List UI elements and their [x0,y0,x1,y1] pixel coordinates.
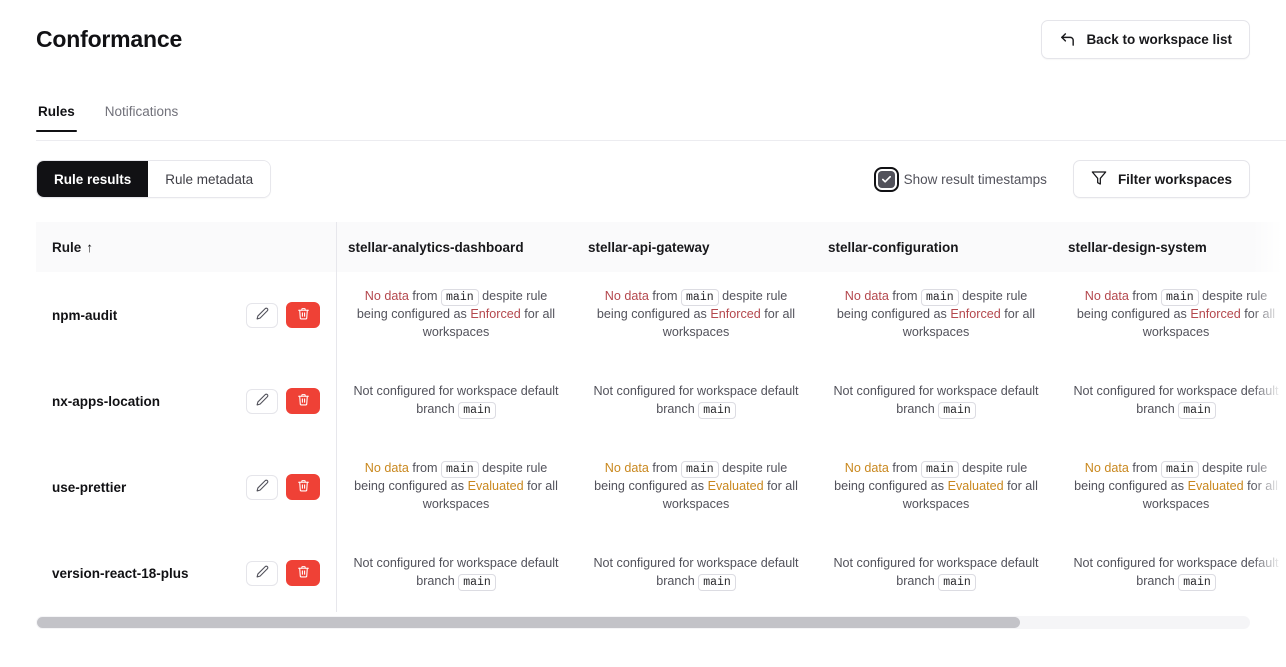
rule-name: nx-apps-location [52,394,160,409]
result-cell: No data from main despite rule being con… [576,444,816,530]
result-cell-content: No data from main despite rule being con… [348,288,564,342]
rule-name: use-prettier [52,480,126,495]
workspace-column-label: stellar-analytics-dashboard [348,240,524,255]
table-row: nx-apps-locationNot configured for works… [36,358,1286,444]
cell-mode-label: Enforced [710,307,760,321]
cell-mode-label: Enforced [1190,307,1240,321]
back-to-workspace-list-button[interactable]: Back to workspace list [1041,20,1250,59]
branch-chip: main [698,402,736,419]
table-row: version-react-18-plusNot configured for … [36,530,1286,612]
cell-message-text: from [889,289,921,303]
cell-mode-label: Evaluated [948,479,1004,493]
branch-chip: main [921,461,959,478]
result-cell-content: No data from main despite rule being con… [828,460,1044,514]
result-cell-content: Not configured for workspace default bra… [828,383,1044,419]
show-result-timestamps-toggle[interactable]: Show result timestamps [878,171,1047,188]
page-header: Conformance Back to workspace list [0,0,1286,78]
conformance-page: Conformance Back to workspace list Rules… [0,0,1286,667]
result-cell: No data from main despite rule being con… [1056,444,1286,530]
show-result-timestamps-label: Show result timestamps [904,172,1047,187]
result-cell: Not configured for workspace default bra… [1056,358,1286,444]
edit-rule-button[interactable] [246,389,278,414]
cell-message-text: from [1129,289,1161,303]
branch-chip: main [938,402,976,419]
pencil-icon [256,565,269,581]
cell-mode-label: Evaluated [468,479,524,493]
result-cell: No data from main despite rule being con… [1056,272,1286,358]
segment-rule-results[interactable]: Rule results [37,161,148,197]
controls-right-group: Show result timestamps Filter workspaces [878,160,1250,198]
result-cell-content: No data from main despite rule being con… [348,460,564,514]
trash-icon [297,307,310,323]
branch-chip: main [921,289,959,306]
row-actions [246,388,320,414]
cell-message-text: Not configured for workspace default bra… [833,556,1038,588]
result-cell: Not configured for workspace default bra… [816,358,1056,444]
branch-chip: main [1178,402,1216,419]
table-row: use-prettierNo data from main despite ru… [36,444,1286,530]
undo-arrow-icon [1059,31,1076,48]
cell-status-label: No data [605,289,649,303]
result-cell-content: Not configured for workspace default bra… [828,555,1044,591]
rule-name: npm-audit [52,308,117,323]
table-header-row: Rule ↑ stellar-analytics-dashboard stell… [36,222,1286,272]
cell-mode-label: Enforced [950,307,1000,321]
cell-message-text: Not configured for workspace default bra… [833,384,1038,416]
cell-status-label: No data [365,289,409,303]
result-cell: Not configured for workspace default bra… [1056,530,1286,612]
cell-message-text: Not configured for workspace default bra… [593,384,798,416]
tab-rules[interactable]: Rules [36,104,77,131]
back-button-label: Back to workspace list [1086,32,1232,47]
cell-status-label: No data [845,461,889,475]
result-cell: No data from main despite rule being con… [816,444,1056,530]
edit-rule-button[interactable] [246,561,278,586]
result-cell-content: No data from main despite rule being con… [1068,460,1284,514]
branch-chip: main [458,402,496,419]
result-cell: No data from main despite rule being con… [816,272,1056,358]
cell-status-label: No data [845,289,889,303]
rule-cell: npm-audit [36,272,336,358]
horizontal-scrollbar[interactable] [36,616,1250,629]
delete-rule-button[interactable] [286,388,320,414]
workspace-column-label: stellar-api-gateway [588,240,710,255]
rule-column-label: Rule [52,240,81,255]
cell-mode-label: Evaluated [1188,479,1244,493]
column-header-workspace[interactable]: stellar-configuration [816,222,1056,272]
funnel-icon [1091,170,1107,189]
edit-rule-button[interactable] [246,303,278,328]
rule-cell: version-react-18-plus [36,530,336,612]
result-cell: Not configured for workspace default bra… [816,530,1056,612]
row-actions [246,560,320,586]
view-segmented-control: Rule results Rule metadata [36,160,271,198]
edit-rule-button[interactable] [246,475,278,500]
cell-message-text: Not configured for workspace default bra… [593,556,798,588]
conformance-table: Rule ↑ stellar-analytics-dashboard stell… [36,222,1286,612]
result-cell-content: No data from main despite rule being con… [588,288,804,342]
rule-cell: nx-apps-location [36,358,336,444]
cell-message-text: Not configured for workspace default bra… [1073,384,1278,416]
tab-notifications[interactable]: Notifications [103,104,181,131]
result-cell: No data from main despite rule being con… [336,272,576,358]
sort-ascending-icon: ↑ [86,240,93,255]
result-cell-content: Not configured for workspace default bra… [1068,555,1284,591]
trash-icon [297,393,310,409]
result-cell-content: No data from main despite rule being con… [1068,288,1284,342]
column-header-workspace[interactable]: stellar-analytics-dashboard [336,222,576,272]
filter-workspaces-label: Filter workspaces [1118,172,1232,187]
cell-mode-label: Evaluated [708,479,764,493]
table-row: npm-auditNo data from main despite rule … [36,272,1286,358]
delete-rule-button[interactable] [286,560,320,586]
cell-mode-label: Enforced [470,307,520,321]
cell-status-label: No data [1085,289,1129,303]
main-tabs: Rules Notifications [36,104,1286,141]
table-grid: Rule ↑ stellar-analytics-dashboard stell… [36,222,1286,612]
pencil-icon [256,393,269,409]
result-cell-content: Not configured for workspace default bra… [588,555,804,591]
cell-message-text: from [649,289,681,303]
row-actions [246,474,320,500]
cell-status-label: No data [605,461,649,475]
checkbox-checked-icon[interactable] [878,171,895,188]
horizontal-scrollbar-thumb[interactable] [37,617,1020,628]
cell-message-text: Not configured for workspace default bra… [353,384,558,416]
result-cell-content: Not configured for workspace default bra… [348,383,564,419]
result-cell-content: Not configured for workspace default bra… [1068,383,1284,419]
branch-chip: main [681,289,719,306]
branch-chip: main [441,289,479,306]
result-cell: No data from main despite rule being con… [336,444,576,530]
table-body: npm-auditNo data from main despite rule … [36,272,1286,612]
branch-chip: main [458,574,496,591]
rule-name: version-react-18-plus [52,566,189,581]
branch-chip: main [1161,461,1199,478]
delete-rule-button[interactable] [286,474,320,500]
delete-rule-button[interactable] [286,302,320,328]
result-cell-content: No data from main despite rule being con… [588,460,804,514]
branch-chip: main [1161,289,1199,306]
pencil-icon [256,479,269,495]
rule-cell: use-prettier [36,444,336,530]
result-cell-content: Not configured for workspace default bra… [348,555,564,591]
result-cell: Not configured for workspace default bra… [576,358,816,444]
row-actions [246,302,320,328]
trash-icon [297,565,310,581]
result-cell: Not configured for workspace default bra… [576,530,816,612]
segment-rule-metadata[interactable]: Rule metadata [148,161,270,197]
branch-chip: main [698,574,736,591]
branch-chip: main [441,461,479,478]
workspace-column-label: stellar-design-system [1068,240,1207,255]
branch-chip: main [681,461,719,478]
cell-message-text: Not configured for workspace default bra… [1073,556,1278,588]
cell-message-text: from [409,289,441,303]
cell-message-text: from [889,461,921,475]
column-header-workspace[interactable]: stellar-design-system [1056,222,1286,272]
column-header-workspace[interactable]: stellar-api-gateway [576,222,816,272]
cell-message-text: from [1129,461,1161,475]
page-title: Conformance [36,26,182,53]
filter-workspaces-button[interactable]: Filter workspaces [1073,160,1250,198]
workspace-column-label: stellar-configuration [828,240,959,255]
result-cell-content: No data from main despite rule being con… [828,288,1044,342]
branch-chip: main [1178,574,1216,591]
cell-message-text: Not configured for workspace default bra… [353,556,558,588]
pencil-icon [256,307,269,323]
column-header-rule[interactable]: Rule ↑ [36,222,336,272]
result-cell: No data from main despite rule being con… [576,272,816,358]
cell-status-label: No data [1085,461,1129,475]
controls-bar: Rule results Rule metadata Show result t… [36,160,1250,198]
branch-chip: main [938,574,976,591]
result-cell: Not configured for workspace default bra… [336,358,576,444]
result-cell: Not configured for workspace default bra… [336,530,576,612]
cell-message-text: from [649,461,681,475]
trash-icon [297,479,310,495]
result-cell-content: Not configured for workspace default bra… [588,383,804,419]
cell-message-text: from [409,461,441,475]
cell-status-label: No data [365,461,409,475]
